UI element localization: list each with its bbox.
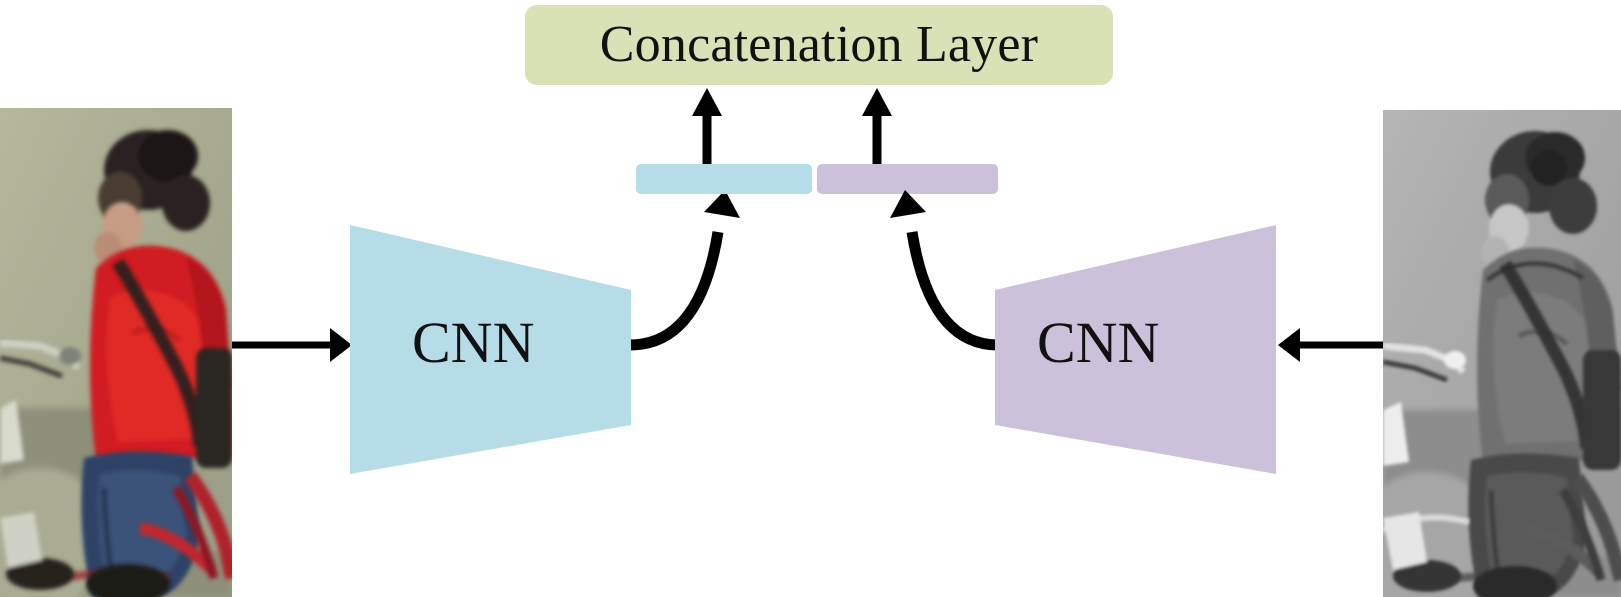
- diagram-canvas: CNN Concatenation Layer CNN: [0, 0, 1621, 597]
- grayscale-cyclist-photo: [1383, 110, 1621, 597]
- right-input-arrow: [0, 0, 1621, 597]
- right-input-image: [1383, 110, 1621, 597]
